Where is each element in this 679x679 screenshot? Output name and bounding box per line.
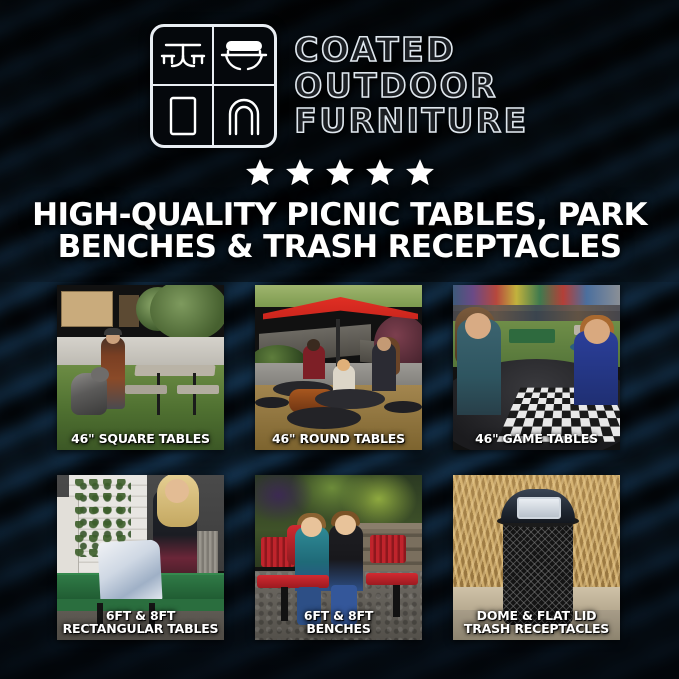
logo-icon-grid [150, 24, 277, 148]
trash-receptacle-icon [153, 86, 214, 145]
brand-word-outdoor: OUTDOOR [294, 69, 528, 104]
picnic-table-icon [153, 27, 214, 86]
star-icon [364, 157, 396, 188]
page-title: HIGH-QUALITY PICNIC TABLES, PARK BENCHES… [30, 200, 649, 264]
product-tile-caption: 6FT & 8FT BENCHES [257, 609, 420, 635]
product-tile-benches[interactable]: 6FT & 8FT BENCHES [255, 475, 422, 640]
promo-banner: COATED OUTDOOR FURNITURE HIGH-QUALITY PI… [0, 0, 679, 679]
caption-line-1: 46" ROUND TABLES [272, 431, 405, 446]
rating-stars [0, 157, 679, 188]
product-tile-caption: 46" GAME TABLES [455, 432, 618, 445]
product-tile-square-tables[interactable]: 46" SQUARE TABLES [57, 285, 224, 450]
headline-line-2: BENCHES & TRASH RECEPTACLES [30, 232, 649, 264]
product-tile-caption: 46" SQUARE TABLES [59, 432, 222, 445]
product-tile-caption: 46" ROUND TABLES [257, 432, 420, 445]
product-photo-game-tables [453, 285, 620, 450]
product-photo-round-tables [255, 285, 422, 450]
star-icon [404, 157, 436, 188]
product-photo-square-tables [57, 285, 224, 450]
product-tile-trash-receptacles[interactable]: DOME & FLAT LID TRASH RECEPTACLES [453, 475, 620, 640]
bike-rack-icon [214, 86, 275, 145]
product-tile-rectangular-tables[interactable]: 6FT & 8FT RECTANGULAR TABLES [57, 475, 224, 640]
product-tile-caption: 6FT & 8FT RECTANGULAR TABLES [59, 609, 222, 635]
star-icon [244, 157, 276, 188]
brand-logo: COATED OUTDOOR FURNITURE [0, 24, 679, 148]
star-icon [324, 157, 356, 188]
product-tile-caption: DOME & FLAT LID TRASH RECEPTACLES [455, 609, 618, 635]
brand-word-coated: COATED [294, 33, 528, 68]
brand-wordmark: COATED OUTDOOR FURNITURE [294, 33, 528, 140]
park-bench-icon [214, 27, 275, 86]
product-tile-round-tables[interactable]: 46" ROUND TABLES [255, 285, 422, 450]
caption-line-2: RECTANGULAR TABLES [59, 622, 222, 635]
caption-line-2: BENCHES [257, 622, 420, 635]
caption-line-2: TRASH RECEPTACLES [455, 622, 618, 635]
caption-line-1: 46" SQUARE TABLES [71, 431, 210, 446]
brand-word-furniture: FURNITURE [294, 104, 528, 139]
caption-line-1: 46" GAME TABLES [475, 431, 598, 446]
headline-line-1: HIGH-QUALITY PICNIC TABLES, PARK [32, 197, 647, 233]
star-icon [284, 157, 316, 188]
product-category-grid: 46" SQUARE TABLES [57, 285, 622, 640]
product-tile-game-tables[interactable]: 46" GAME TABLES [453, 285, 620, 450]
